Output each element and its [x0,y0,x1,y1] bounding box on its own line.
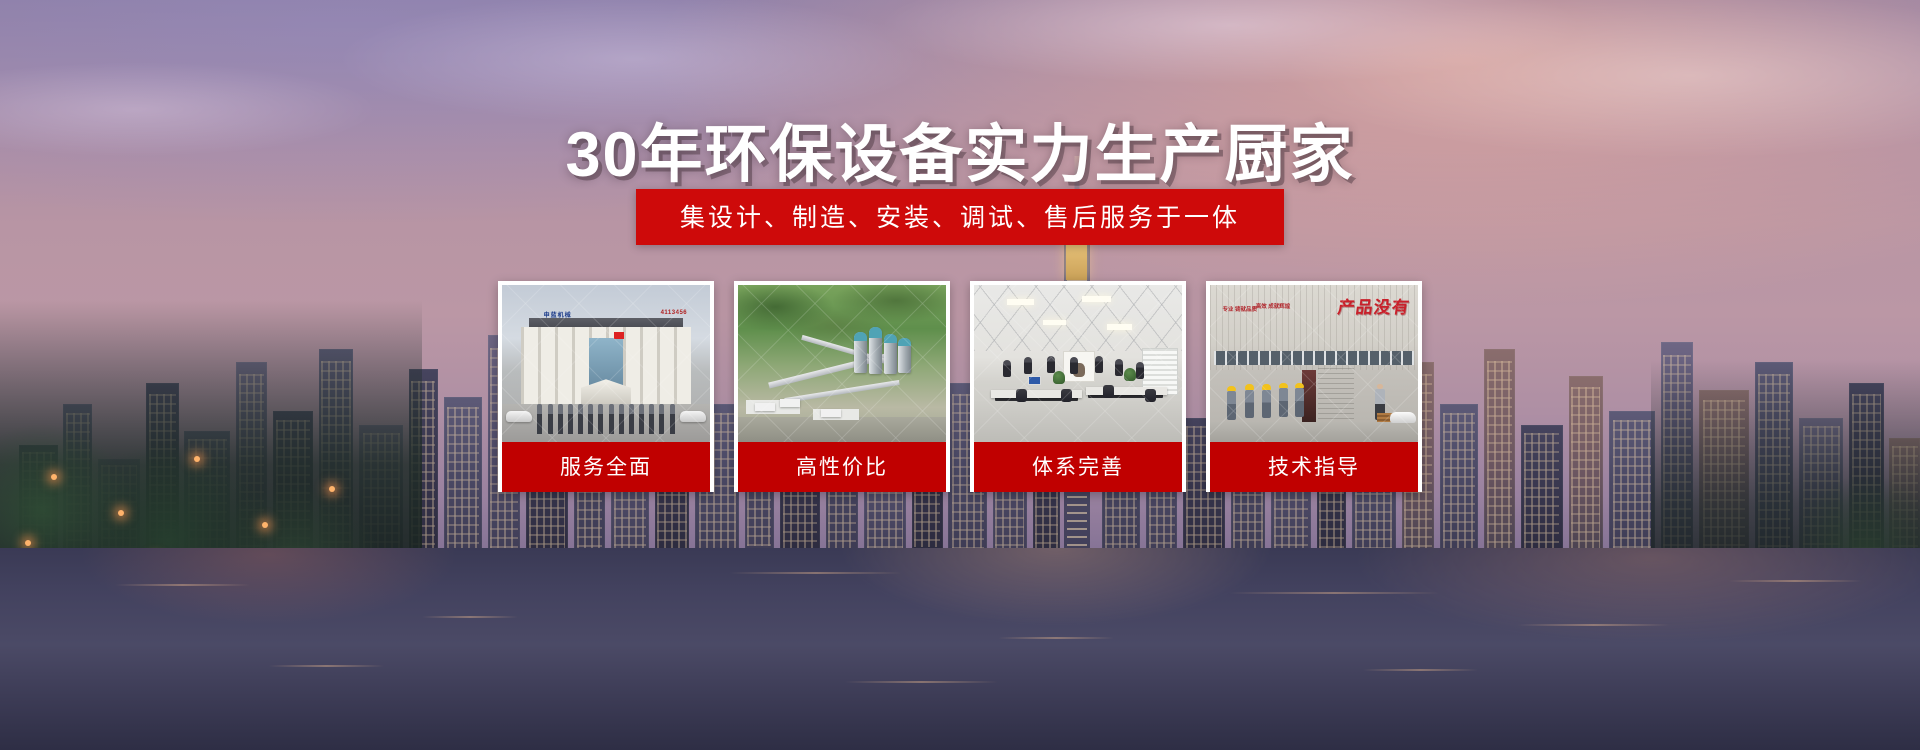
factory-door [1318,368,1353,423]
parked-car [506,411,532,422]
factory-exterior-photo: 产品没有 专业 铸就品质 高效 成就辉煌 [1210,285,1418,442]
water-light-streaks [0,548,1920,750]
staff-lineup [537,404,674,434]
feature-card-row: 申蓝机械 4113456 服务全面 [498,281,1422,492]
card-caption: 高性价比 [738,442,946,492]
parked-car [680,411,706,422]
parked-car [1390,412,1416,423]
card-caption: 服务全面 [502,442,710,492]
office-interior-photo [974,285,1182,442]
feature-card-guidance[interactable]: 产品没有 专业 铸就品质 高效 成就辉煌 技术指导 [1206,281,1422,492]
card-caption: 体系完善 [974,442,1182,492]
wall-poster [1063,351,1094,382]
flag-decor [614,332,624,339]
feature-card-system[interactable]: 体系完善 [970,281,1186,492]
office-building-photo: 申蓝机械 4113456 [502,285,710,442]
factory-wall-text: 产品没有 [1336,293,1412,318]
factory-slogan-left: 专业 铸就品质 [1222,307,1257,314]
promo-banner: 30年环保设备实力生产厨家 集设计、制造、安装、调试、售后服务于一体 申蓝机械 … [0,0,1920,750]
aerial-plant-photo [738,285,946,442]
feature-card-value[interactable]: 高性价比 [734,281,950,492]
company-sign-text: 申蓝机械 [544,310,572,319]
subtitle-badge: 集设计、制造、安装、调试、售后服务于一体 [636,189,1284,245]
card-caption: 技术指导 [1210,442,1418,492]
page-title: 30年环保设备实力生产厨家 [0,104,1920,195]
feature-card-service[interactable]: 申蓝机械 4113456 服务全面 [498,281,714,492]
factory-slogan-right: 高效 成就辉煌 [1256,304,1291,311]
company-phone-text: 4113456 [661,310,688,316]
